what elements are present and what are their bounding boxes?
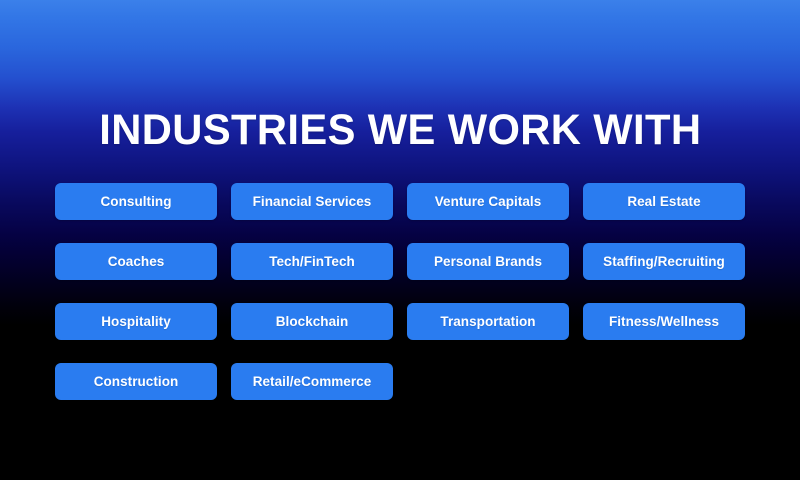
industry-pill[interactable]: Hospitality (55, 303, 217, 340)
page-title-container: INDUSTRIES WE WORK WITH (0, 78, 800, 182)
grid-spacer (407, 363, 569, 400)
industry-pill[interactable]: Tech/FinTech (231, 243, 393, 280)
industry-pill[interactable]: Blockchain (231, 303, 393, 340)
industry-pill[interactable]: Venture Capitals (407, 183, 569, 220)
industry-pill[interactable]: Personal Brands (407, 243, 569, 280)
industry-pill[interactable]: Transportation (407, 303, 569, 340)
industry-pill[interactable]: Consulting (55, 183, 217, 220)
industry-pill[interactable]: Construction (55, 363, 217, 400)
industry-pill[interactable]: Coaches (55, 243, 217, 280)
page-title: INDUSTRIES WE WORK WITH (99, 107, 701, 153)
industry-pill[interactable]: Staffing/Recruiting (583, 243, 745, 280)
industry-pill[interactable]: Retail/eCommerce (231, 363, 393, 400)
industry-pill[interactable]: Fitness/Wellness (583, 303, 745, 340)
industries-slide: INDUSTRIES WE WORK WITH Consulting Finan… (0, 0, 800, 480)
grid-spacer (583, 363, 745, 400)
industry-pill[interactable]: Financial Services (231, 183, 393, 220)
industry-pill[interactable]: Real Estate (583, 183, 745, 220)
industry-pill-grid: Consulting Financial Services Venture Ca… (55, 183, 745, 400)
